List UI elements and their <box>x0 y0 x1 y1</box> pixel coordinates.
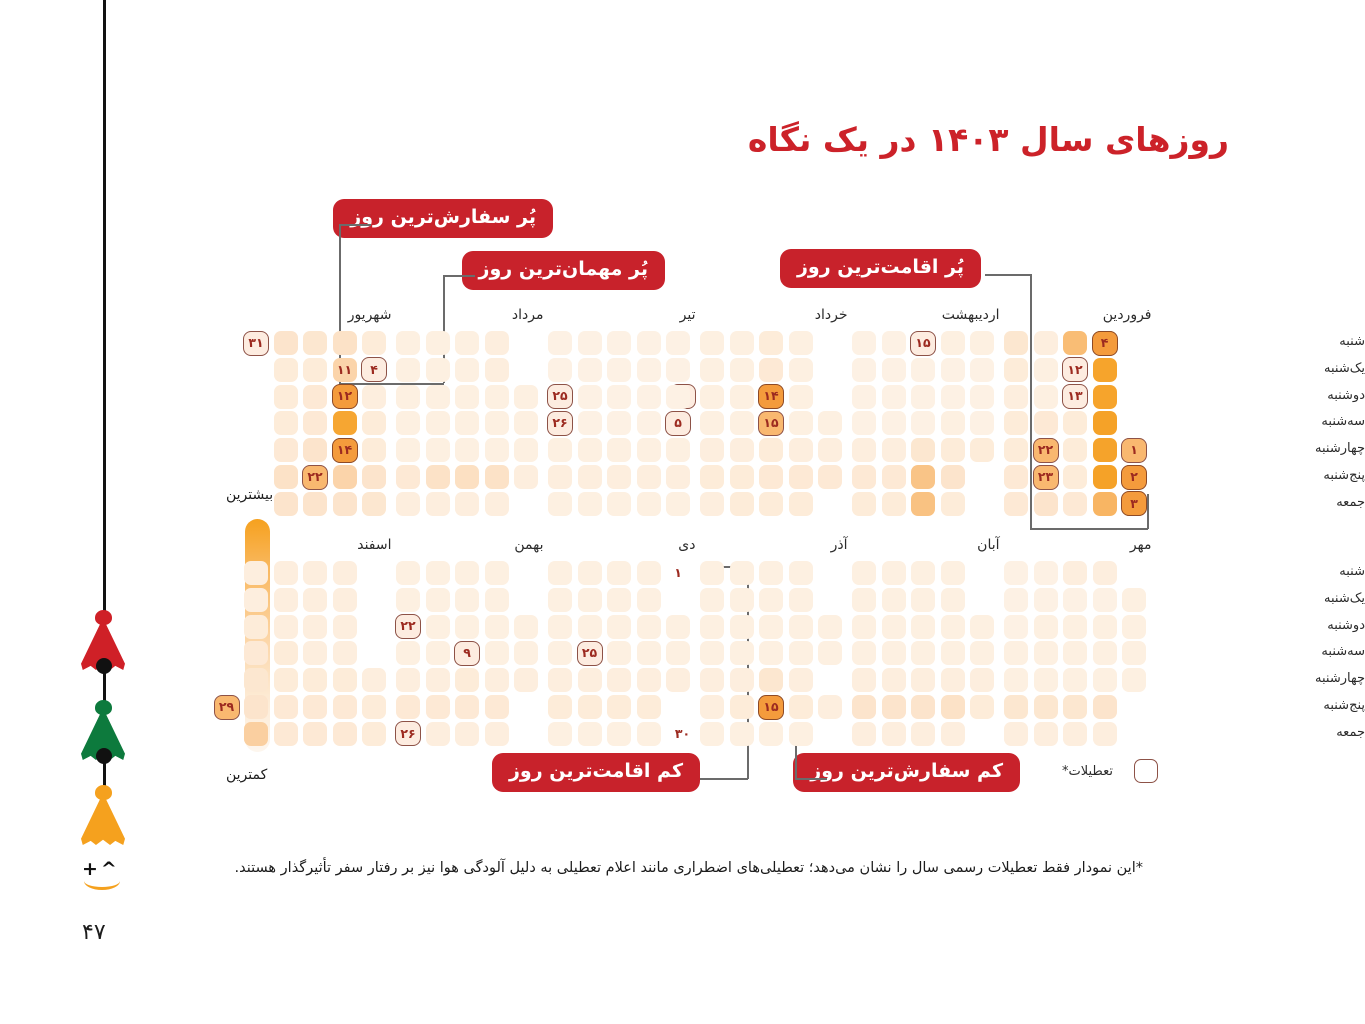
day-badge: ۱ <box>665 561 691 586</box>
calendar-cell <box>303 668 327 692</box>
calendar-cell <box>274 722 298 746</box>
calendar-cell <box>1063 465 1087 489</box>
calendar-cell <box>789 438 813 462</box>
calendar-cell <box>1063 722 1087 746</box>
calendar-cell <box>396 561 420 585</box>
calendar-cell <box>882 588 906 612</box>
calendar-cell <box>1034 588 1058 612</box>
calendar-cell <box>637 588 661 612</box>
day-badge: ۲۲ <box>1033 438 1059 463</box>
month-label: اسفند <box>357 537 391 553</box>
calendar-cell <box>666 358 690 382</box>
calendar-cell <box>882 615 906 639</box>
calendar-cell <box>274 615 298 639</box>
calendar-cell <box>852 438 876 462</box>
calendar-cell <box>1093 561 1117 585</box>
weekday-label: جمعه <box>1172 495 1365 510</box>
calendar-cell <box>455 331 479 355</box>
weekday-label: پنج‌شنبه <box>1172 468 1365 483</box>
calendar-cell <box>1034 615 1058 639</box>
calendar-cell <box>730 331 754 355</box>
calendar-cell <box>818 695 842 719</box>
calendar-cell <box>578 695 602 719</box>
calendar-cell <box>882 411 906 435</box>
calendar-cell <box>274 331 298 355</box>
calendar-cell <box>666 615 690 639</box>
calendar-cell <box>426 588 450 612</box>
calendar-cell <box>730 465 754 489</box>
day-badge: ۲۶ <box>547 411 573 436</box>
calendar-cell <box>789 722 813 746</box>
calendar-cell <box>730 411 754 435</box>
day-badge: ۹ <box>454 641 480 666</box>
calendar-cell <box>607 331 631 355</box>
calendar-cell <box>333 722 357 746</box>
weekday-label: چهارشنبه <box>1172 441 1365 456</box>
calendar-cell <box>548 465 572 489</box>
calendar-cell <box>333 641 357 665</box>
calendar-cell <box>426 641 450 665</box>
calendar-cell <box>941 668 965 692</box>
calendar-cell <box>637 358 661 382</box>
calendar-cell <box>514 438 538 462</box>
calendar-cell <box>970 438 994 462</box>
calendar-cell <box>485 722 509 746</box>
page-title: روزهای سال ۱۴۰۳ در یک نگاه <box>748 120 1229 159</box>
calendar-cell <box>1063 615 1087 639</box>
calendar-cell <box>1063 411 1087 435</box>
calendar-cell <box>274 492 298 516</box>
calendar-cell <box>244 561 268 585</box>
calendar-cell <box>455 561 479 585</box>
calendar-cell <box>548 561 572 585</box>
day-badge: ۱۲ <box>332 384 358 409</box>
calendar-cell <box>882 438 906 462</box>
calendar-cell <box>578 358 602 382</box>
page-number: ۴۷ <box>82 920 106 945</box>
calendar-cell <box>941 465 965 489</box>
callout-most-guests: پُر مهمان‌ترین روز <box>462 251 665 290</box>
calendar-cell <box>396 465 420 489</box>
calendar-cell <box>1004 385 1028 409</box>
calendar-cell <box>637 561 661 585</box>
decorative-cord <box>103 0 106 812</box>
month-label: تیر <box>680 307 696 323</box>
calendar-cell <box>637 438 661 462</box>
calendar-cell <box>578 385 602 409</box>
calendar-cell <box>882 492 906 516</box>
cord-bead-icon <box>96 658 112 674</box>
calendar-cell <box>485 695 509 719</box>
calendar-cell <box>700 695 724 719</box>
calendar-cell <box>607 492 631 516</box>
calendar-cell <box>759 561 783 585</box>
calendar-cell <box>455 492 479 516</box>
calendar-cell <box>1122 668 1146 692</box>
calendar-cell <box>548 615 572 639</box>
calendar-cell <box>970 615 994 639</box>
calendar-cell <box>789 588 813 612</box>
calendar-cell <box>789 561 813 585</box>
calendar-cell <box>303 615 327 639</box>
day-badge: ۱۴ <box>758 384 784 409</box>
calendar-cell <box>666 331 690 355</box>
calendar-cell <box>548 722 572 746</box>
calendar-cell <box>666 668 690 692</box>
calendar-cell <box>852 331 876 355</box>
calendar-cell <box>789 358 813 382</box>
brand-smile-icon <box>84 872 120 890</box>
day-badge: ۲۵ <box>547 384 573 409</box>
calendar-cell <box>303 695 327 719</box>
calendar-cell <box>455 668 479 692</box>
calendar-cell <box>852 465 876 489</box>
calendar-cell <box>1004 411 1028 435</box>
calendar-cell <box>1063 695 1087 719</box>
calendar-cell <box>700 615 724 639</box>
calendar-cell <box>941 615 965 639</box>
weekday-label: دوشنبه <box>1172 618 1365 633</box>
calendar-cell <box>426 492 450 516</box>
calendar-cell <box>637 492 661 516</box>
calendar-cell <box>941 641 965 665</box>
calendar-cell <box>274 438 298 462</box>
calendar-cell <box>941 695 965 719</box>
calendar-cell <box>578 331 602 355</box>
calendar-cell <box>362 385 386 409</box>
calendar-cell <box>852 561 876 585</box>
calendar-cell <box>396 641 420 665</box>
calendar-cell <box>970 358 994 382</box>
calendar-cell <box>362 438 386 462</box>
calendar-cell <box>455 695 479 719</box>
calendar-cell <box>274 561 298 585</box>
calendar-cell <box>333 668 357 692</box>
day-badge: ۲۶ <box>395 721 421 746</box>
calendar-cell <box>700 641 724 665</box>
calendar-cell <box>882 385 906 409</box>
day-badge: ۱۴ <box>332 438 358 463</box>
calendar-cell <box>700 561 724 585</box>
calendar-cell <box>700 722 724 746</box>
calendar-cell <box>759 641 783 665</box>
calendar-cell <box>485 668 509 692</box>
calendar-cell <box>882 358 906 382</box>
day-badge: ۵ <box>665 411 691 436</box>
calendar-cell <box>426 695 450 719</box>
calendar-cell <box>514 385 538 409</box>
calendar-cell <box>1093 588 1117 612</box>
calendar-cell <box>789 385 813 409</box>
calendar-cell <box>730 641 754 665</box>
calendar-cell <box>789 641 813 665</box>
calendar-cell <box>274 695 298 719</box>
weekday-label: یک‌شنبه <box>1172 591 1365 606</box>
calendar-cell <box>852 615 876 639</box>
calendar-cell <box>274 641 298 665</box>
calendar-cell <box>852 492 876 516</box>
calendar-cell <box>759 438 783 462</box>
calendar-cell <box>911 615 935 639</box>
month-block: اسفند۲۹ <box>244 561 392 749</box>
calendar-cell <box>882 668 906 692</box>
calendar-cell <box>941 438 965 462</box>
calendar-cell <box>637 695 661 719</box>
calendar-cell <box>607 358 631 382</box>
calendar-cell <box>759 615 783 639</box>
calendar-cell <box>666 465 690 489</box>
day-badge: ۱۵ <box>758 411 784 436</box>
calendar-cell <box>303 641 327 665</box>
calendar-cell <box>485 561 509 585</box>
calendar-cell <box>548 438 572 462</box>
calendar-cell <box>730 492 754 516</box>
callout-least-stays: کم اقامت‌ترین روز <box>492 753 700 792</box>
calendar-cell <box>396 668 420 692</box>
calendar-cell <box>911 492 935 516</box>
calendar-cell <box>789 668 813 692</box>
brand-logo: ^+ <box>82 858 142 898</box>
day-badge: ۲۲ <box>302 465 328 490</box>
calendar-cell <box>578 492 602 516</box>
calendar-cell <box>852 668 876 692</box>
calendar-cell <box>244 695 268 719</box>
calendar-cell <box>700 331 724 355</box>
calendar-cell <box>637 722 661 746</box>
calendar-cell <box>789 695 813 719</box>
calendar-cell <box>700 438 724 462</box>
calendar-cell <box>1122 641 1146 665</box>
calendar-cell <box>941 561 965 585</box>
month-label: مرداد <box>512 307 544 323</box>
calendar-cell <box>362 722 386 746</box>
calendar-cell <box>1004 695 1028 719</box>
month-label: خرداد <box>815 307 848 323</box>
day-badge: ۲۲ <box>395 614 421 639</box>
month-block: اردیبهشت۱۵ <box>852 331 1000 519</box>
calendar-cell <box>455 615 479 639</box>
calendar-cell <box>396 358 420 382</box>
day-badge: ۱۱ <box>332 357 358 382</box>
month-label: شهریور <box>348 307 392 323</box>
calendar-cell <box>700 668 724 692</box>
calendar-cell <box>759 668 783 692</box>
calendar-cell <box>485 438 509 462</box>
calendar-cell <box>485 588 509 612</box>
calendar-cell <box>1093 668 1117 692</box>
calendar-cell <box>759 588 783 612</box>
calendar-cell <box>607 561 631 585</box>
calendar-cell <box>548 668 572 692</box>
calendar-cell <box>700 411 724 435</box>
calendar-cell <box>485 492 509 516</box>
calendar-cell <box>485 465 509 489</box>
calendar-cell <box>666 385 690 409</box>
calendar-cell <box>578 465 602 489</box>
calendar-cell <box>759 331 783 355</box>
calendar-cell <box>789 331 813 355</box>
calendar-cell <box>455 588 479 612</box>
calendar-cell <box>1034 331 1058 355</box>
month-label: آذر <box>831 537 848 553</box>
calendar-cell <box>514 641 538 665</box>
calendar-cell <box>970 641 994 665</box>
calendar-cell <box>1004 438 1028 462</box>
calendar-cell <box>514 668 538 692</box>
calendar-cell <box>578 561 602 585</box>
calendar-cell <box>485 358 509 382</box>
calendar-cell <box>911 641 935 665</box>
calendar-cell <box>1093 641 1117 665</box>
calendar-cell <box>333 331 357 355</box>
calendar-cell <box>303 411 327 435</box>
calendar-cell <box>274 588 298 612</box>
calendar-cell <box>1034 668 1058 692</box>
calendar-cell <box>396 438 420 462</box>
calendar-cell <box>548 695 572 719</box>
calendar-cell <box>818 641 842 665</box>
calendar-cell <box>911 411 935 435</box>
footnote: *این نمودار فقط تعطیلات رسمی سال را نشان… <box>143 858 1143 880</box>
calendar-cell <box>455 438 479 462</box>
calendar-cell <box>818 438 842 462</box>
calendar-cell <box>1093 385 1117 409</box>
calendar-cell <box>911 668 935 692</box>
calendar-cell <box>1093 695 1117 719</box>
calendar-cell <box>852 695 876 719</box>
calendar-cell <box>548 588 572 612</box>
calendar-cell <box>637 331 661 355</box>
calendar-cell <box>244 668 268 692</box>
connector-most-orders <box>339 224 371 226</box>
calendar-cell <box>578 668 602 692</box>
calendar-cell <box>700 492 724 516</box>
calendar-cell <box>333 465 357 489</box>
connector-most-stays <box>985 274 1031 276</box>
day-badge: ۱۲ <box>1062 357 1088 382</box>
calendar-cell <box>852 385 876 409</box>
callout-least-orders: کم سفارش‌ترین روز <box>793 753 1020 792</box>
calendar-cell <box>911 695 935 719</box>
legend-label-least: کمترین <box>226 767 267 783</box>
holidays-key-swatch <box>1134 759 1158 783</box>
month-label: بهمن <box>514 537 543 553</box>
calendar-cell <box>303 385 327 409</box>
calendar-cell <box>396 695 420 719</box>
day-badge: ۲ <box>1121 465 1147 490</box>
calendar-cell <box>333 561 357 585</box>
calendar-cell <box>607 438 631 462</box>
calendar-cell <box>852 588 876 612</box>
calendar-cell <box>666 438 690 462</box>
calendar-cell <box>548 358 572 382</box>
day-badge: ۲۹ <box>214 695 240 720</box>
connector-most-guests <box>443 275 475 277</box>
calendar-cell <box>1034 492 1058 516</box>
connector-least-orders <box>795 778 827 780</box>
calendar-cell <box>882 465 906 489</box>
day-badge: ۱۳ <box>1062 384 1088 409</box>
calendar-cell <box>1034 695 1058 719</box>
day-badge: ۱۵ <box>758 695 784 720</box>
calendar-cell <box>852 641 876 665</box>
calendar-cell <box>578 615 602 639</box>
day-badge: ۱ <box>1121 438 1147 463</box>
calendar-cell <box>759 465 783 489</box>
calendar-cell <box>970 331 994 355</box>
calendar-cell <box>362 411 386 435</box>
calendar-cell <box>789 492 813 516</box>
calendar-cell <box>1034 722 1058 746</box>
calendar-cell <box>1063 438 1087 462</box>
calendar-cell <box>730 561 754 585</box>
calendar-cell <box>730 615 754 639</box>
calendar-cell <box>730 722 754 746</box>
calendar-cell <box>941 588 965 612</box>
calendar-cell <box>789 465 813 489</box>
calendar-cell <box>1004 641 1028 665</box>
calendar-cell <box>1063 588 1087 612</box>
calendar-cell <box>818 615 842 639</box>
calendar-cell <box>607 465 631 489</box>
calendar-cell <box>514 411 538 435</box>
calendar-cell <box>333 411 357 435</box>
day-badge: ۴ <box>1092 331 1118 356</box>
calendar-cell <box>789 411 813 435</box>
month-label: فروردین <box>1103 307 1152 323</box>
calendar-cell <box>455 385 479 409</box>
calendar-cell <box>1004 561 1028 585</box>
calendar-cell <box>911 588 935 612</box>
calendar-cell <box>911 722 935 746</box>
month-block: مرداد <box>396 331 544 519</box>
calendar-cell <box>730 438 754 462</box>
calendar-cell <box>303 722 327 746</box>
calendar-cell <box>303 492 327 516</box>
calendar-cell <box>818 411 842 435</box>
calendar-cell <box>362 695 386 719</box>
calendar-cell <box>1004 588 1028 612</box>
calendar-cell <box>396 492 420 516</box>
calendar-cell <box>333 588 357 612</box>
weekday-label: پنج‌شنبه <box>1172 698 1365 713</box>
calendar-cell <box>818 465 842 489</box>
calendar-cell <box>637 385 661 409</box>
calendar-cell <box>426 465 450 489</box>
calendar-cell <box>700 465 724 489</box>
month-label: دی <box>678 537 695 553</box>
calendar-cell <box>1063 561 1087 585</box>
calendar-cell <box>426 722 450 746</box>
calendar-cell <box>911 561 935 585</box>
calendar-cell <box>274 668 298 692</box>
calendar-cell <box>303 588 327 612</box>
calendar-cell <box>1034 385 1058 409</box>
calendar-cell <box>882 695 906 719</box>
calendar-cell <box>1034 358 1058 382</box>
calendar-cell <box>274 411 298 435</box>
calendar-cell <box>970 668 994 692</box>
month-block: آذر۱۵۳۰ <box>700 561 848 749</box>
calendar-cell <box>578 722 602 746</box>
calendar-cell <box>1004 358 1028 382</box>
calendar-cell <box>426 385 450 409</box>
calendar-cell <box>882 561 906 585</box>
weekday-label: چهارشنبه <box>1172 671 1365 686</box>
calendar-cell <box>911 358 935 382</box>
calendar-cell <box>941 358 965 382</box>
calendar-cell <box>426 668 450 692</box>
